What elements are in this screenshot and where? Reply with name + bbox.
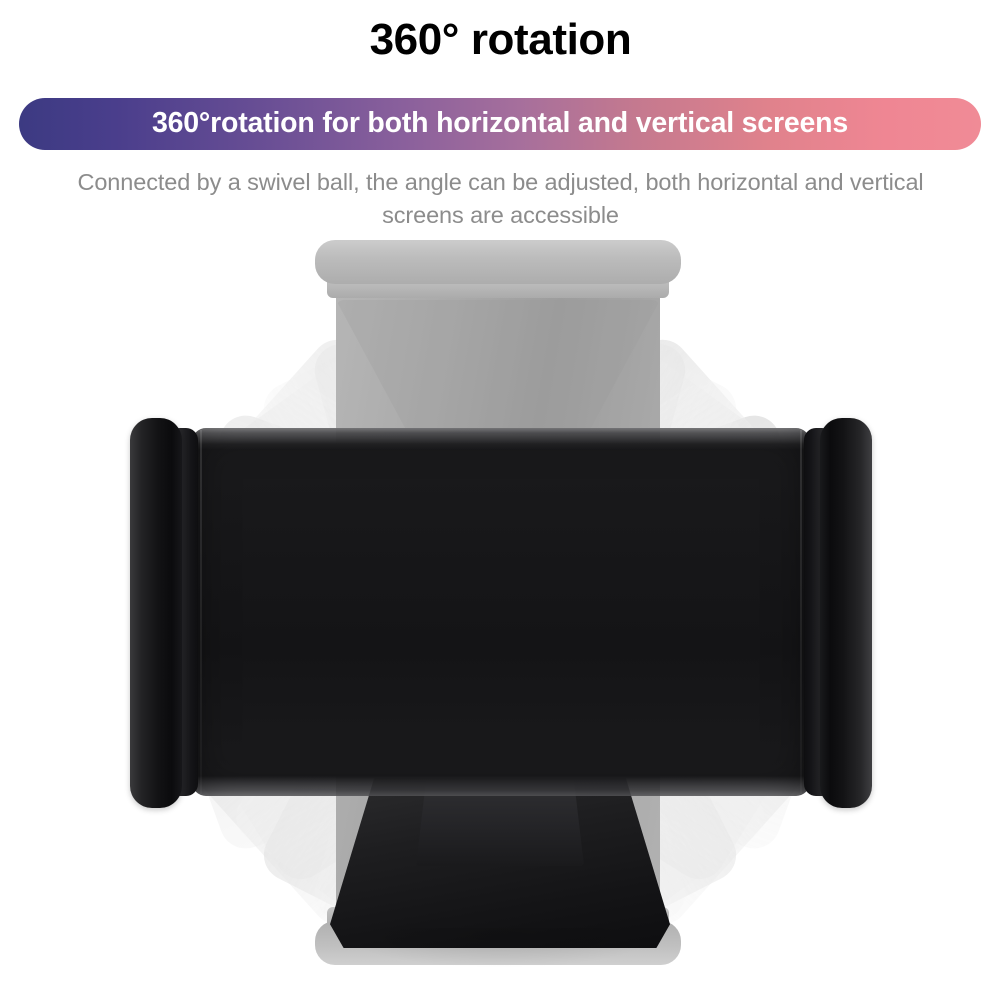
holder-horizontal [130, 418, 872, 808]
holder-clamp-left [130, 418, 182, 808]
swivel-base [330, 778, 670, 1000]
holder-seam-left [200, 430, 202, 794]
page-title: 360° rotation [0, 17, 1001, 64]
product-image-stage [0, 232, 1001, 1001]
holder-seam-right [800, 430, 802, 794]
holder-horizontal-panel [192, 428, 810, 796]
gradient-banner: 360°rotation for both horizontal and ver… [19, 98, 981, 150]
page-description: Connected by a swivel ball, the angle ca… [60, 166, 941, 233]
holder-vertical-cap-top [315, 240, 681, 284]
holder-clamp-right [820, 418, 872, 808]
gradient-banner-text: 360°rotation for both horizontal and ver… [152, 109, 848, 140]
product-feature-page: 360° rotation 360°rotation for both hori… [0, 0, 1001, 1001]
base-shadow [344, 928, 656, 968]
